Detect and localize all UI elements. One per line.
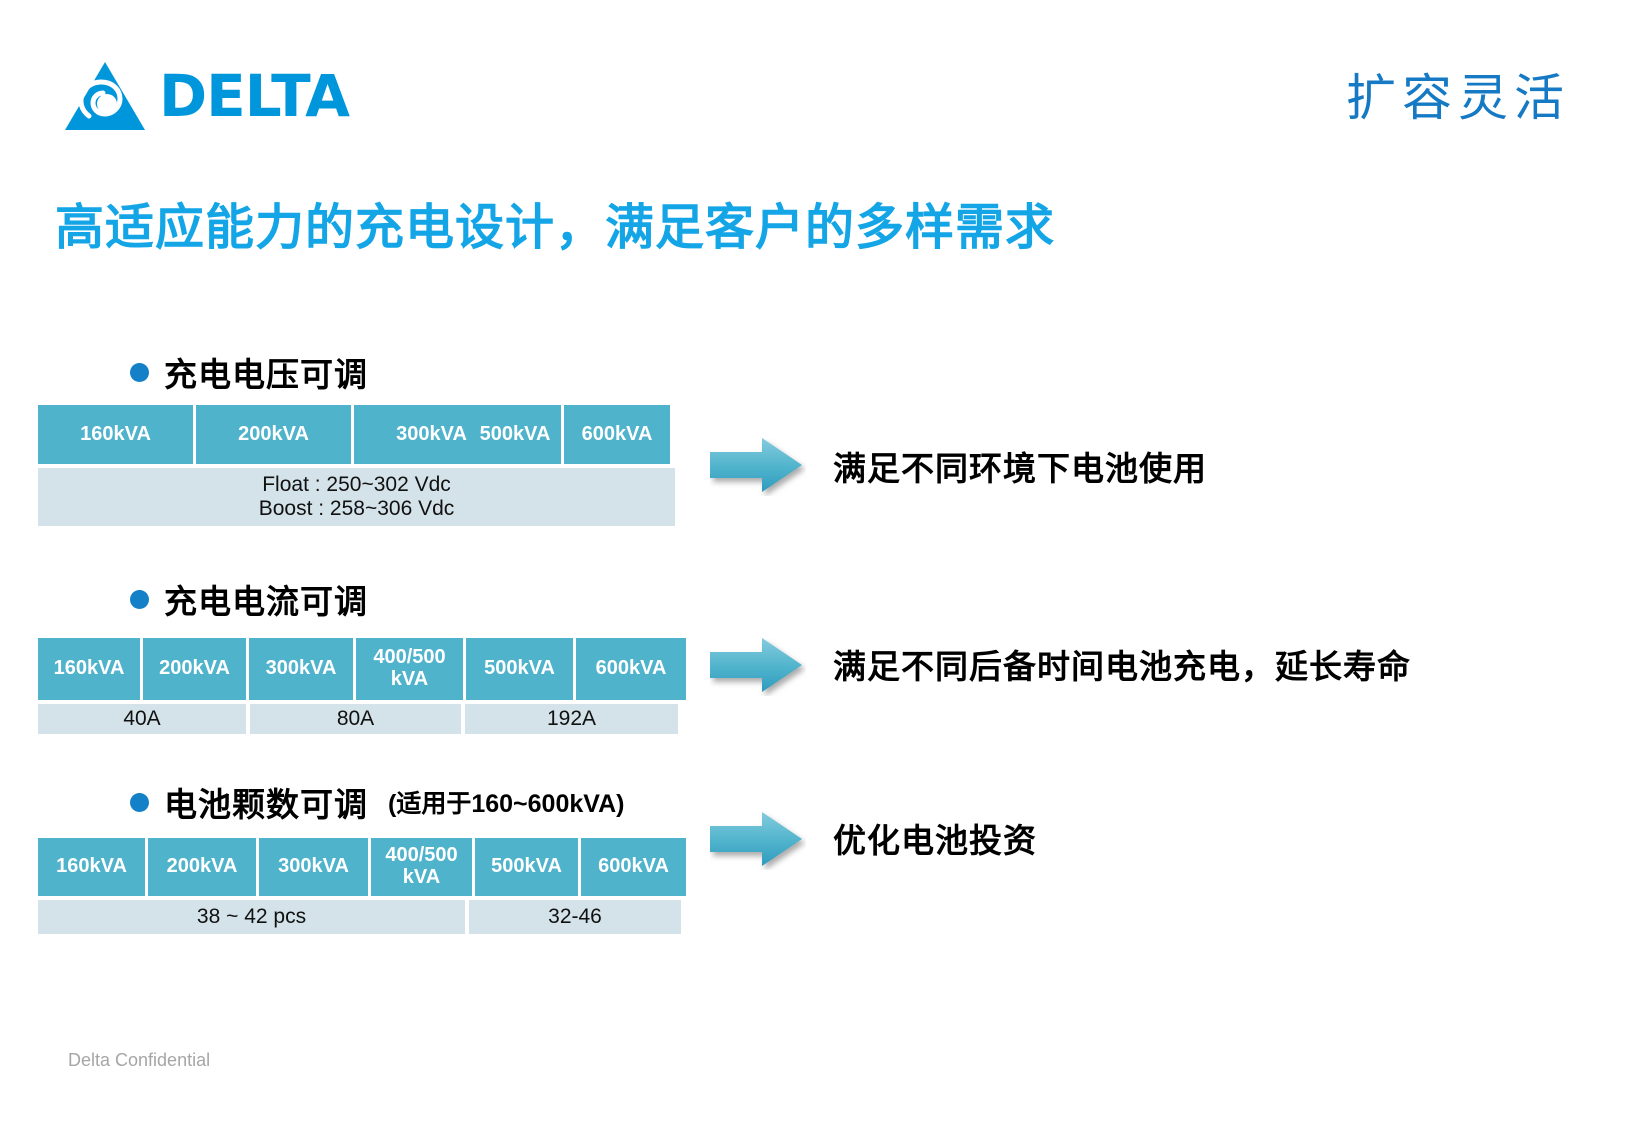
- page-title: 高适应能力的充电设计，满足客户的多样需求: [55, 188, 1055, 259]
- section-callout-label: 满足不同后备时间电池充电，延长寿命: [833, 640, 1411, 688]
- table-header-row: 500kVA 600kVA: [469, 405, 675, 464]
- table-header-cell: 300kVA: [249, 638, 353, 700]
- header-right-title: 扩容灵活: [1346, 58, 1570, 130]
- brand-logo: DELTA: [63, 58, 349, 134]
- table-value-cell: 80A: [250, 704, 461, 734]
- bullet-icon: [130, 363, 149, 382]
- table-header-cell: 200kVA: [148, 838, 256, 896]
- table-value-cell: 192A: [465, 704, 678, 734]
- table-header-cell: 500kVA: [466, 638, 573, 700]
- table-value-row: 38 ~ 42 pcs 32-46: [38, 900, 686, 934]
- table-header-cell: 300kVA: [259, 838, 368, 896]
- section-subtitle: (适用于160~600kVA): [388, 784, 624, 820]
- table-header-row: 160kVA 200kVA 300kVA 400/500 kVA 500kVA …: [38, 638, 686, 700]
- table-value-row: 40A 80A 192A: [38, 704, 686, 734]
- table-value-row: [469, 468, 675, 504]
- section-title: 充电电压可调: [164, 348, 368, 396]
- table-header-cell: 160kVA: [38, 838, 145, 896]
- table-header-cell: 600kVA: [581, 838, 686, 896]
- section-callout-label: 满足不同环境下电池使用: [833, 442, 1207, 490]
- table-value-cell: 32-46: [469, 900, 681, 934]
- section-title: 电池颗数可调: [164, 778, 368, 826]
- table-charge-current: 160kVA 200kVA 300kVA 400/500 kVA 500kVA …: [38, 638, 686, 734]
- arrow-icon: [710, 812, 806, 870]
- logo-wordmark: DELTA: [159, 67, 349, 125]
- section-callout-label: 优化电池投资: [833, 814, 1037, 862]
- bullet-icon: [130, 793, 149, 812]
- table-header-cell: 200kVA: [143, 638, 246, 700]
- arrow-icon: [710, 438, 806, 496]
- table-header-cell: 160kVA: [38, 405, 193, 464]
- table-battery-count: 160kVA 200kVA 300kVA 400/500 kVA 500kVA …: [38, 838, 686, 934]
- table-header-cell: 600kVA: [576, 638, 686, 700]
- table-value-cell: 40A: [38, 704, 246, 734]
- table-header-cell: 160kVA: [38, 638, 140, 700]
- table-header-cell: 200kVA: [196, 405, 351, 464]
- footer-confidential-note: Delta Confidential: [68, 1050, 210, 1071]
- table-header-cell: 600kVA: [564, 405, 670, 464]
- bullet-icon: [130, 590, 149, 609]
- table-charge-voltage-right: 500kVA 600kVA: [469, 405, 675, 504]
- table-value-cell: 38 ~ 42 pcs: [38, 900, 465, 934]
- arrow-icon: [710, 638, 806, 696]
- table-header-cell: 500kVA: [469, 405, 561, 464]
- table-header-cell: 500kVA: [475, 838, 578, 896]
- table-header-row: 160kVA 200kVA 300kVA 400/500 kVA 500kVA …: [38, 838, 686, 896]
- section-heading-charge-voltage: 充电电压可调: [130, 348, 368, 396]
- section-heading-battery-count: 电池颗数可调 (适用于160~600kVA): [130, 778, 624, 826]
- table-header-cell: 400/500 kVA: [371, 838, 472, 896]
- section-title: 充电电流可调: [164, 575, 368, 623]
- delta-triangle-icon: [63, 60, 147, 132]
- section-heading-charge-current: 充电电流可调: [130, 575, 368, 623]
- table-value-cell: [469, 468, 675, 504]
- table-header-cell: 400/500 kVA: [356, 638, 463, 700]
